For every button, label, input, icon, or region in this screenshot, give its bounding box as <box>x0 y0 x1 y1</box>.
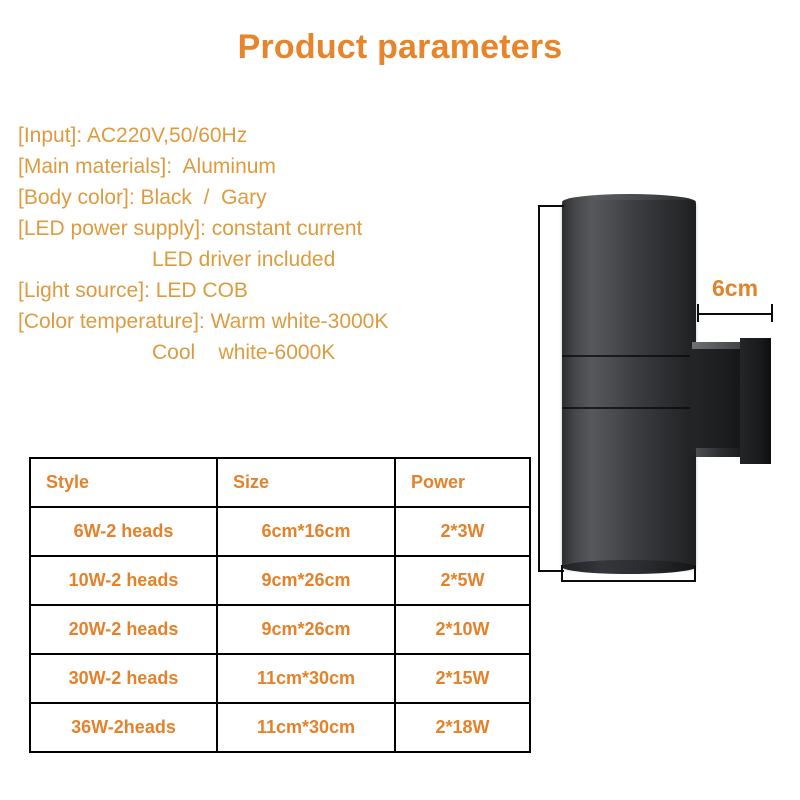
table-header-size: Size <box>217 458 395 507</box>
cell-size: 9cm*26cm <box>217 605 395 654</box>
specifications-list: [Input]: AC220V,50/60Hz [Main materials]… <box>18 120 488 368</box>
specification-table: Style Size Power 6W-2 heads 6cm*16cm 2*3… <box>29 457 531 753</box>
wall-bracket-backplate <box>740 338 771 464</box>
lamp-bottom-cap <box>562 560 696 574</box>
lamp-cylinder-body <box>562 200 696 568</box>
cell-power: 2*15W <box>395 654 530 703</box>
cell-style: 36W-2heads <box>30 703 217 752</box>
height-dimension-line <box>538 205 540 572</box>
spec-line-color-temperature-warm: [Color temperature]: Warm white-3000K <box>18 306 488 337</box>
cell-size: 11cm*30cm <box>217 654 395 703</box>
spec-line-light-source: [Light source]: LED COB <box>18 275 488 306</box>
cell-size: 6cm*16cm <box>217 507 395 556</box>
width-dimension-tick-left <box>561 565 563 582</box>
cell-size: 11cm*30cm <box>217 703 395 752</box>
table-header-style: Style <box>30 458 217 507</box>
table-row: 10W-2 heads 9cm*26cm 2*5W <box>30 556 530 605</box>
depth-dimension-tick-left <box>697 304 699 322</box>
table-row: 20W-2 heads 9cm*26cm 2*10W <box>30 605 530 654</box>
depth-dimension-line <box>697 313 773 315</box>
height-dimension-tick-top <box>538 205 564 207</box>
cell-power: 2*10W <box>395 605 530 654</box>
product-parameters-page: Product parameters [Input]: AC220V,50/60… <box>0 0 800 800</box>
spec-line-main-materials: [Main materials]: Aluminum <box>18 151 488 182</box>
product-photo: 6cm <box>500 180 800 600</box>
table-row: 30W-2 heads 11cm*30cm 2*15W <box>30 654 530 703</box>
depth-dimension-tick-right <box>771 304 773 322</box>
depth-dimension-label: 6cm <box>712 275 758 302</box>
page-title: Product parameters <box>0 28 800 67</box>
spec-line-led-driver-included: LED driver included <box>18 244 488 275</box>
cell-style: 6W-2 heads <box>30 507 217 556</box>
lamp-seam-lower <box>562 407 696 409</box>
width-dimension-line <box>561 580 696 582</box>
cell-size: 9cm*26cm <box>217 556 395 605</box>
table-header-row: Style Size Power <box>30 458 530 507</box>
table-row: 36W-2heads 11cm*30cm 2*18W <box>30 703 530 752</box>
cell-style: 30W-2 heads <box>30 654 217 703</box>
spec-line-body-color: [Body color]: Black / Gary <box>18 182 488 213</box>
cell-style: 10W-2 heads <box>30 556 217 605</box>
spec-line-led-power-supply: [LED power supply]: constant current <box>18 213 488 244</box>
lamp-seam-upper <box>562 355 696 357</box>
table-row: 6W-2 heads 6cm*16cm 2*3W <box>30 507 530 556</box>
cell-power: 2*18W <box>395 703 530 752</box>
spec-line-color-temperature-cool: Cool white-6000K <box>18 337 488 368</box>
cell-style: 20W-2 heads <box>30 605 217 654</box>
spec-line-input: [Input]: AC220V,50/60Hz <box>18 120 488 151</box>
width-dimension-tick-right <box>694 565 696 582</box>
